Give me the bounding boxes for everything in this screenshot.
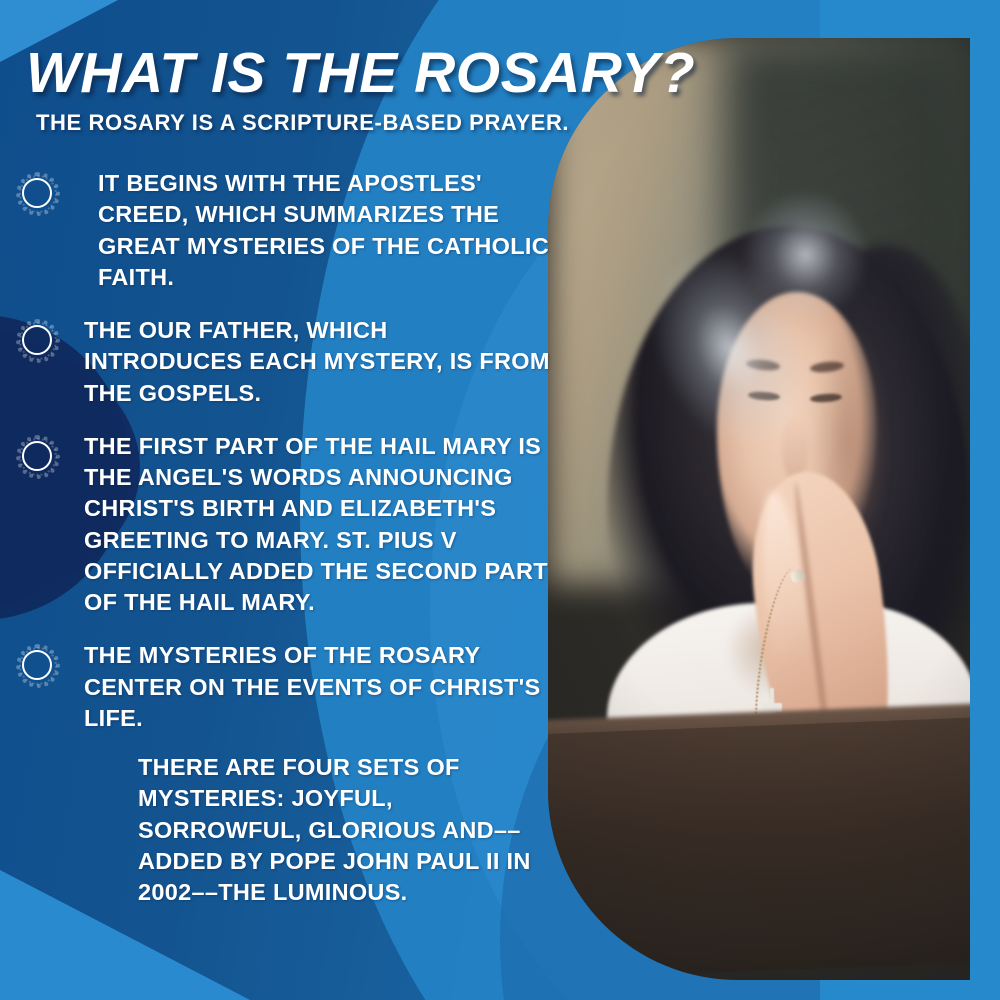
bullet-list: IT BEGINS WITH THE APOSTLES' CREED, WHIC… <box>0 168 560 930</box>
list-item: THE OUR FATHER, WHICH INTRODUCES EACH MY… <box>0 315 560 409</box>
photo-vignette <box>548 38 970 980</box>
rosary-infographic-poster: WHAT IS THE ROSARY? THE ROSARY IS A SCRI… <box>0 0 1000 1000</box>
list-item-main-text: THE MYSTERIES OF THE ROSARY CENTER ON TH… <box>84 642 541 731</box>
page-title: WHAT IS THE ROSARY? <box>26 40 695 106</box>
text-content: WHAT IS THE ROSARY? THE ROSARY IS A SCRI… <box>0 0 560 1000</box>
bullet-ring <box>22 178 52 208</box>
list-item-sub-note: THERE ARE FOUR SETS OF MYSTERIES: JOYFUL… <box>84 752 552 908</box>
circle-outline-bullet-icon <box>16 644 60 688</box>
list-item-text: THE OUR FATHER, WHICH INTRODUCES EACH MY… <box>60 315 560 409</box>
circle-outline-bullet-icon <box>16 172 60 216</box>
list-item: THE MYSTERIES OF THE ROSARY CENTER ON TH… <box>0 640 560 908</box>
woman-praying-with-rosary-photo <box>548 38 970 980</box>
circle-outline-bullet-icon <box>16 435 60 479</box>
page-subtitle: THE ROSARY IS A SCRIPTURE-BASED PRAYER. <box>36 110 569 136</box>
list-item: IT BEGINS WITH THE APOSTLES' CREED, WHIC… <box>0 168 560 293</box>
bullet-ring <box>22 441 52 471</box>
circle-outline-bullet-icon <box>16 319 60 363</box>
photo-render <box>548 38 970 980</box>
list-item-text: THE FIRST PART OF THE HAIL MARY IS THE A… <box>60 431 560 619</box>
list-item-text: IT BEGINS WITH THE APOSTLES' CREED, WHIC… <box>60 168 560 293</box>
bullet-ring <box>22 325 52 355</box>
list-item: THE FIRST PART OF THE HAIL MARY IS THE A… <box>0 431 560 619</box>
list-item-text: THE MYSTERIES OF THE ROSARY CENTER ON TH… <box>60 640 560 908</box>
